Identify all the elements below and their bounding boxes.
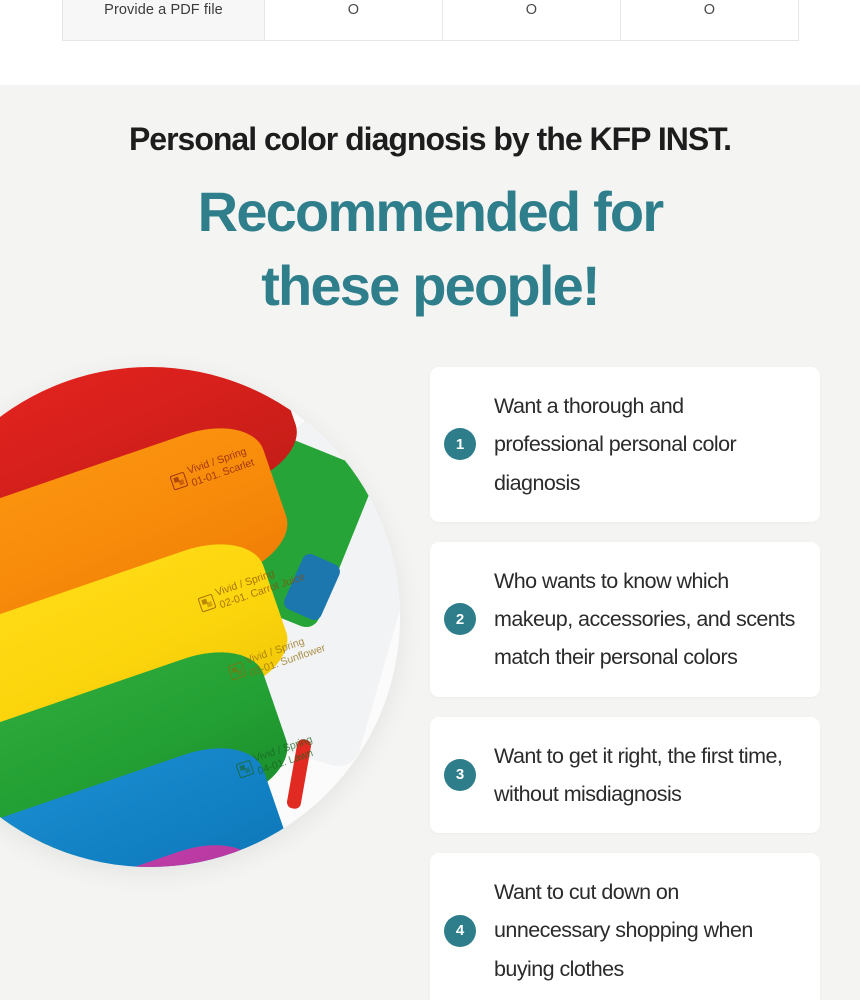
- card-number-badge: 3: [444, 759, 476, 791]
- card-text: Who wants to know which makeup, accessor…: [494, 562, 798, 677]
- benefit-card-1[interactable]: 1 Want a thorough and professional perso…: [430, 367, 820, 522]
- card-number-badge: 4: [444, 915, 476, 947]
- page-title: Recommended for these people!: [0, 175, 860, 323]
- table-body: Provide a PDF file O O O: [63, 0, 799, 41]
- headline-line-1: Recommended for: [198, 180, 663, 243]
- comparison-table: Provide a PDF file O O O: [62, 0, 799, 41]
- table-row-header: Provide a PDF file: [63, 0, 265, 41]
- photo-disc: Vivid / Spring 01-01. Scarlet Vivid / Sp…: [0, 367, 400, 867]
- benefit-card-3[interactable]: 3 Want to get it right, the first time, …: [430, 717, 820, 834]
- table-section: Provide a PDF file O O O: [0, 0, 860, 85]
- benefit-card-2[interactable]: 2 Who wants to know which makeup, access…: [430, 542, 820, 697]
- card-number-badge: 2: [444, 603, 476, 635]
- table-cell-1: O: [265, 0, 443, 41]
- table-cell-3: O: [621, 0, 799, 41]
- card-text: Want to get it right, the first time, wi…: [494, 737, 798, 814]
- card-text: Want to cut down on unnecessary shopping…: [494, 873, 798, 988]
- benefit-card-4[interactable]: 4 Want to cut down on unnecessary shoppi…: [430, 853, 820, 1000]
- benefit-card-list: 1 Want a thorough and professional perso…: [430, 367, 820, 1000]
- hero-eyebrow: Personal color diagnosis by the KFP INST…: [0, 122, 860, 157]
- recommended-hero-section: Personal color diagnosis by the KFP INST…: [0, 85, 860, 1000]
- table-cell-2: O: [443, 0, 621, 41]
- card-text: Want a thorough and professional persona…: [494, 387, 798, 502]
- headline-line-2: these people!: [261, 254, 599, 317]
- color-drape-photo: Vivid / Spring 01-01. Scarlet Vivid / Sp…: [0, 367, 400, 867]
- card-number-badge: 1: [444, 428, 476, 460]
- table-row: Provide a PDF file O O O: [63, 0, 799, 41]
- swatch-tag-icon: [240, 850, 259, 867]
